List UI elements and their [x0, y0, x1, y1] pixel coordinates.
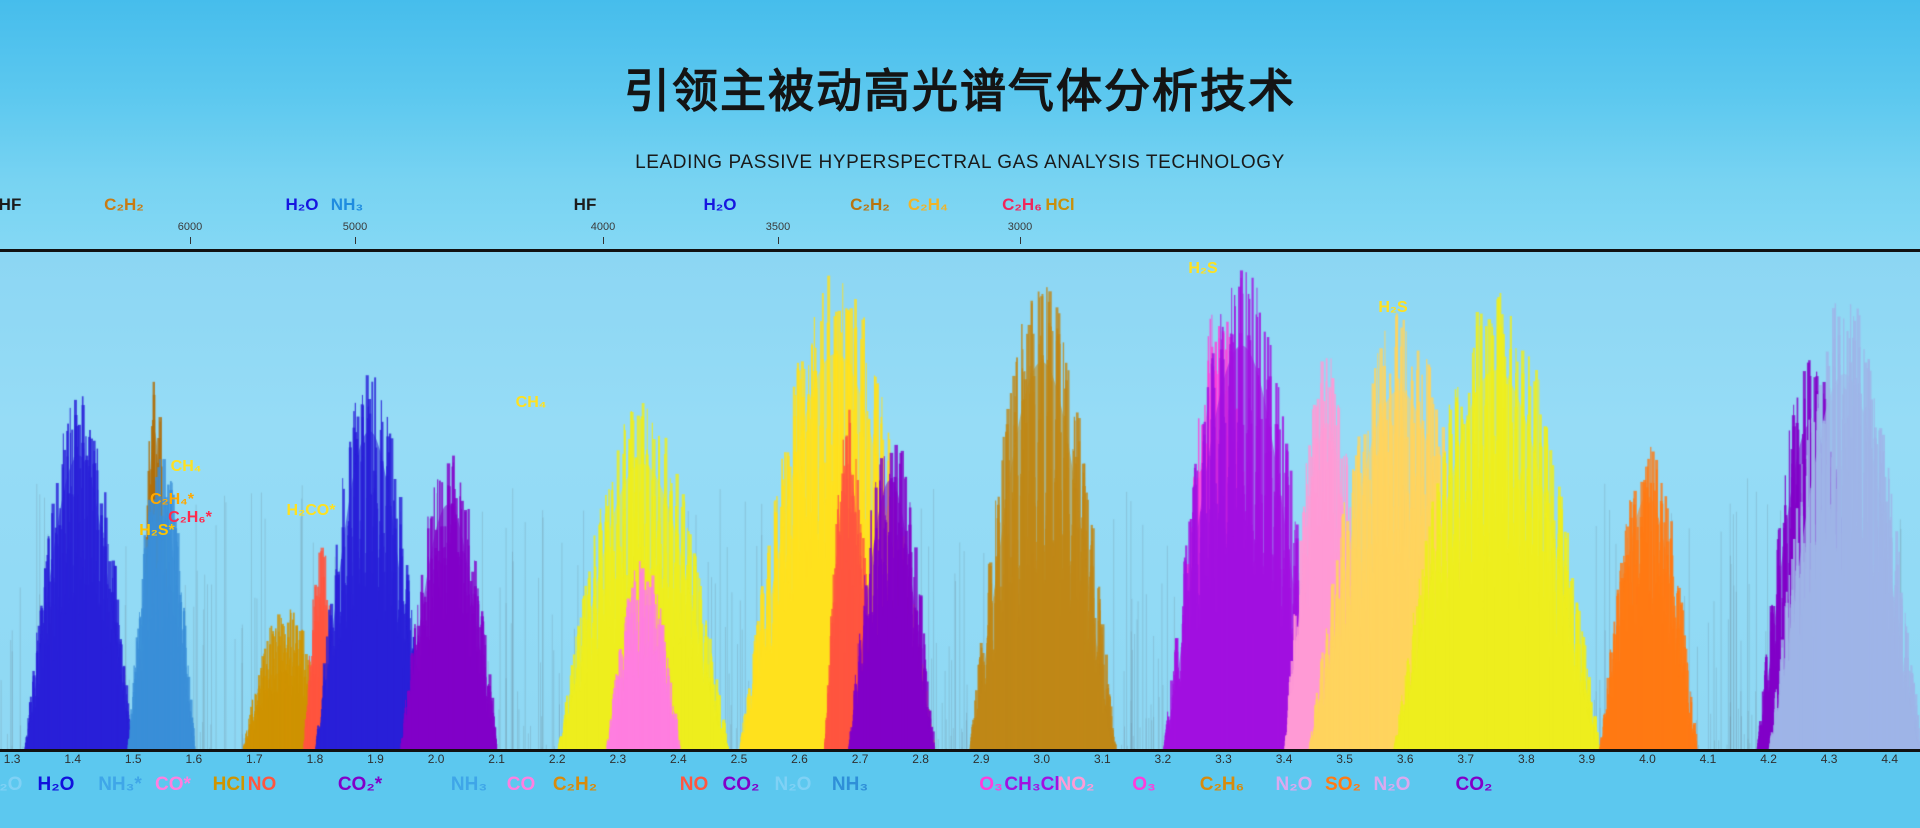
bottom-gas-label-NO: NO	[248, 774, 277, 796]
poster-root: 引领主被动高光谱气体分析技术 LEADING PASSIVE HYPERSPEC…	[0, 0, 1920, 828]
bottom-axis-tick: 3.1	[1094, 752, 1111, 766]
bottom-gas-label-C2H2: C₂H₂	[553, 774, 597, 796]
top-axis-tickmark	[603, 237, 604, 244]
bottom-axis-tick: 2.7	[852, 752, 869, 766]
top-axis-tickmark	[190, 237, 191, 244]
bottom-gas-label-NH3: NH₃	[451, 774, 487, 796]
bottom-gas-label-NO: NO	[680, 774, 709, 796]
bottom-axis: 1.31.41.51.61.71.81.92.02.12.22.32.42.52…	[0, 752, 1920, 828]
top-gas-label-HF: HF	[0, 195, 21, 215]
bottom-gas-label-NH3star: NH₃*	[98, 774, 142, 796]
bottom-axis-tick: 3.0	[1033, 752, 1050, 766]
bottom-axis-tick: 3.7	[1457, 752, 1474, 766]
bottom-axis-tick: 3.9	[1579, 752, 1596, 766]
top-gas-label-C2H2: C₂H₂	[850, 195, 890, 215]
bottom-axis-tick: 4.2	[1760, 752, 1777, 766]
bottom-gas-label-N2O: N₂O	[775, 774, 812, 796]
bottom-axis-tick: 2.3	[609, 752, 626, 766]
bottom-axis-tick: 3.5	[1336, 752, 1353, 766]
bottom-axis-tick: 2.4	[670, 752, 687, 766]
bottom-axis-tick: 3.8	[1518, 752, 1535, 766]
bottom-gas-label-NH3: NH₃	[832, 774, 868, 796]
top-axis: HFC₂H₂H₂ONH₃HFH₂OC₂H₂C₂H₄C₂H₆HCl60005000…	[0, 195, 1920, 250]
top-axis-tick: 3500	[766, 221, 790, 233]
bottom-gas-label-CO2: CO₂	[1456, 774, 1493, 796]
inplot-gas-label-H2S: H₂S	[1188, 260, 1217, 278]
bottom-axis-tick: 4.3	[1821, 752, 1838, 766]
top-gas-label-NH3: NH₃	[331, 195, 363, 215]
inplot-gas-label-C2H4star: C₂H₄*	[150, 491, 194, 509]
bottom-axis-tick: 1.4	[64, 752, 81, 766]
top-axis-tickmark	[355, 237, 356, 244]
bottom-axis-tick: 1.8	[307, 752, 324, 766]
page-title: 引领主被动高光谱气体分析技术	[0, 55, 1920, 121]
top-gas-label-HF: HF	[574, 195, 597, 215]
bottom-axis-tick: 4.4	[1881, 752, 1898, 766]
bottom-gas-label-CO2: CO₂	[723, 774, 760, 796]
bottom-axis-tick: 2.8	[912, 752, 929, 766]
top-gas-label-C2H2: C₂H₂	[104, 195, 144, 215]
top-axis-tick: 4000	[591, 221, 615, 233]
bottom-axis-tick: 3.4	[1276, 752, 1293, 766]
bottom-gas-label-HCl: HCl	[213, 774, 246, 796]
bottom-axis-tick: 1.3	[4, 752, 21, 766]
bottom-gas-label-O3: O₃	[1132, 774, 1156, 796]
top-axis-tickmark	[1020, 237, 1021, 244]
bottom-axis-tick: 4.0	[1639, 752, 1656, 766]
top-gas-label-C2H4: C₂H₄	[908, 195, 948, 215]
bottom-gas-label-NO2: NO₂	[1058, 774, 1095, 796]
top-axis-tick: 5000	[343, 221, 367, 233]
top-axis-tick: 3000	[1008, 221, 1032, 233]
top-axis-tick: 6000	[178, 221, 202, 233]
inplot-gas-label-H2Sstar: H₂S*	[139, 522, 175, 540]
inplot-gas-label-CH4: CH₄	[516, 394, 547, 412]
bottom-gas-label-CH3Cl: CH₃Cl	[1004, 774, 1059, 796]
top-axis-tickmark	[778, 237, 779, 244]
bottom-axis-tick: 2.0	[428, 752, 445, 766]
bottom-axis-tick: 2.2	[549, 752, 566, 766]
bottom-gas-label-H2O: H₂O	[38, 774, 75, 796]
bottom-axis-tick: 2.9	[973, 752, 990, 766]
bottom-gas-label-N2O: N₂O	[0, 774, 22, 796]
spectrum-canvas	[0, 252, 1920, 749]
bottom-gas-label-SO2: SO₂	[1325, 774, 1361, 796]
top-gas-label-H2O: H₂O	[285, 195, 318, 215]
spectrum-plot: CH₄C₂H₄*C₂H₆*H₂S*H₂CO*CH₄H₂SCH₄H₂COH₂SH₂…	[0, 249, 1920, 752]
bottom-gas-label-CO2star: CO₂*	[338, 774, 382, 796]
bottom-axis-tick: 1.9	[367, 752, 384, 766]
bottom-axis-tick: 3.6	[1397, 752, 1414, 766]
bottom-axis-tick: 2.1	[488, 752, 505, 766]
bottom-axis-tick: 3.2	[1155, 752, 1172, 766]
bottom-gas-label-N2O: N₂O	[1374, 774, 1411, 796]
top-gas-label-HCl: HCl	[1045, 195, 1074, 215]
bottom-gas-label-N2O: N₂O	[1276, 774, 1313, 796]
top-gas-label-C2H6: C₂H₆	[1002, 195, 1042, 215]
page-subtitle: LEADING PASSIVE HYPERSPECTRAL GAS ANALYS…	[0, 152, 1920, 174]
bottom-axis-tick: 1.7	[246, 752, 263, 766]
bottom-axis-tick: 4.1	[1700, 752, 1717, 766]
bottom-axis-tick: 1.5	[125, 752, 142, 766]
inplot-gas-label-H2S: H₂S	[1378, 299, 1407, 317]
bottom-axis-tick: 2.6	[791, 752, 808, 766]
bottom-gas-label-COstar: CO*	[155, 774, 191, 796]
bottom-axis-tick: 3.3	[1215, 752, 1232, 766]
bottom-axis-tick: 2.5	[731, 752, 748, 766]
inplot-gas-label-H2COstar: H₂CO*	[287, 502, 336, 520]
bottom-axis-tick: 1.6	[185, 752, 202, 766]
inplot-gas-label-CH4: CH₄	[171, 458, 202, 476]
bottom-gas-label-C2H6: C₂H₆	[1200, 774, 1245, 796]
bottom-gas-label-CO: CO	[507, 774, 536, 796]
bottom-gas-label-O3: O₃	[979, 774, 1003, 796]
top-gas-label-H2O: H₂O	[703, 195, 736, 215]
